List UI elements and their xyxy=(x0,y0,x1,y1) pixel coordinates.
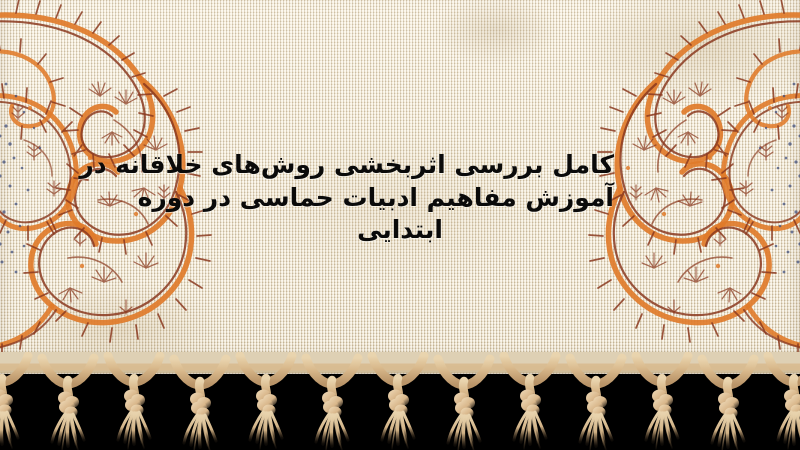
title-line-1: کامل بررسی اثربخشی روش‌های خلاقانه در xyxy=(186,149,614,182)
pateh-banner-image: کامل بررسی اثربخشی روش‌های خلاقانه در آم… xyxy=(0,0,800,450)
knotted-tassel-fringe xyxy=(0,352,800,450)
banner-title: کامل بررسی اثربخشی روش‌های خلاقانه در آم… xyxy=(0,149,800,247)
title-line-3: ابتدایی xyxy=(186,214,614,247)
title-line-2: آموزش مفاهیم ادبیات حماسی در دوره xyxy=(186,182,614,215)
